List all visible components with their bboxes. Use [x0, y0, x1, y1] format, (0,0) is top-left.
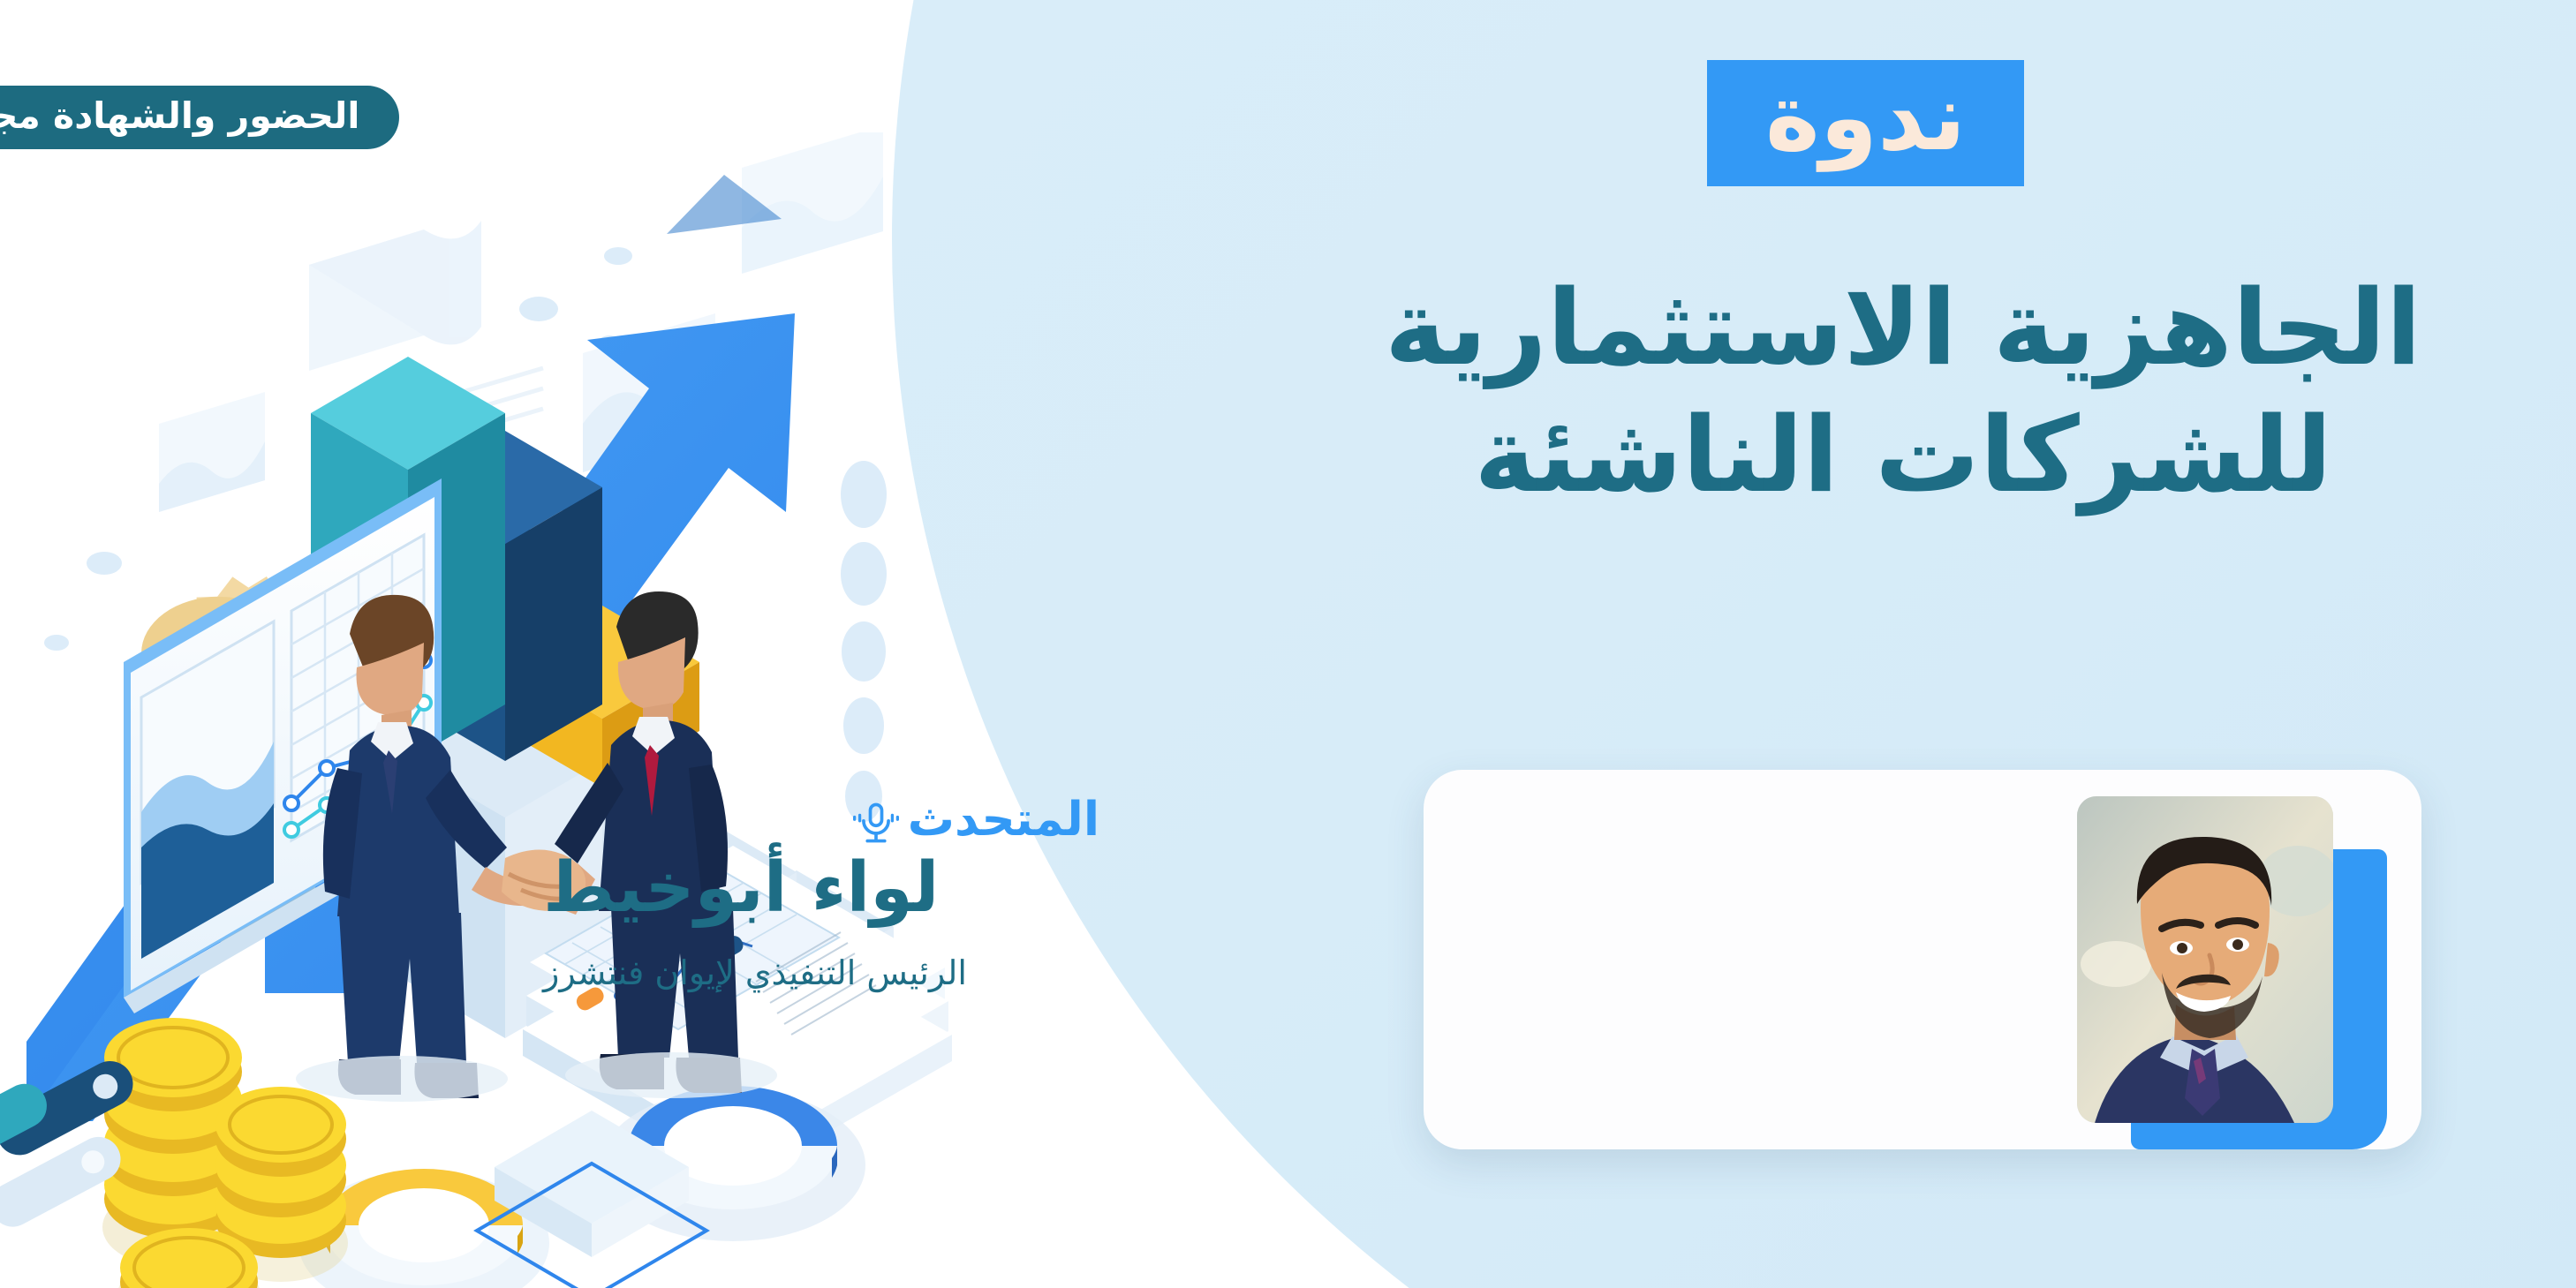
- business-growth-illustration: [0, 132, 989, 1288]
- coin-stacks: [102, 1018, 348, 1288]
- headline-line-2: للشركات الناشئة: [1285, 392, 2521, 519]
- banner-canvas: الحضور والشهادة مجانا ندوة الجاهزية الاس…: [0, 0, 2576, 1288]
- speaker-job-title: الرئيس التنفيذي لإيوان فنتشرز: [543, 952, 1099, 995]
- microphone-icon: [853, 800, 899, 846]
- speaker-name: لواء أبوخيط: [543, 849, 1099, 929]
- free-attendance-label: الحضور والشهادة مجانا: [0, 98, 395, 134]
- page-title: الجاهزية الاستثمارية للشركات الناشئة: [1285, 265, 2521, 519]
- headline-line-1: الجاهزية الاستثمارية: [1285, 265, 2521, 392]
- event-type-label: ندوة: [1765, 72, 1966, 164]
- event-type-badge: ندوة: [1707, 60, 2024, 186]
- speaker-role-label: المتحدث: [908, 795, 1099, 846]
- speaker-info: المتحدث لواء أبوخيط الرئيس التنفيذي لإيو…: [543, 795, 1099, 995]
- speaker-avatar: [2077, 796, 2333, 1123]
- free-attendance-badge: الحضور والشهادة مجانا: [0, 86, 399, 149]
- speaker-role-row: المتحدث: [543, 795, 1099, 846]
